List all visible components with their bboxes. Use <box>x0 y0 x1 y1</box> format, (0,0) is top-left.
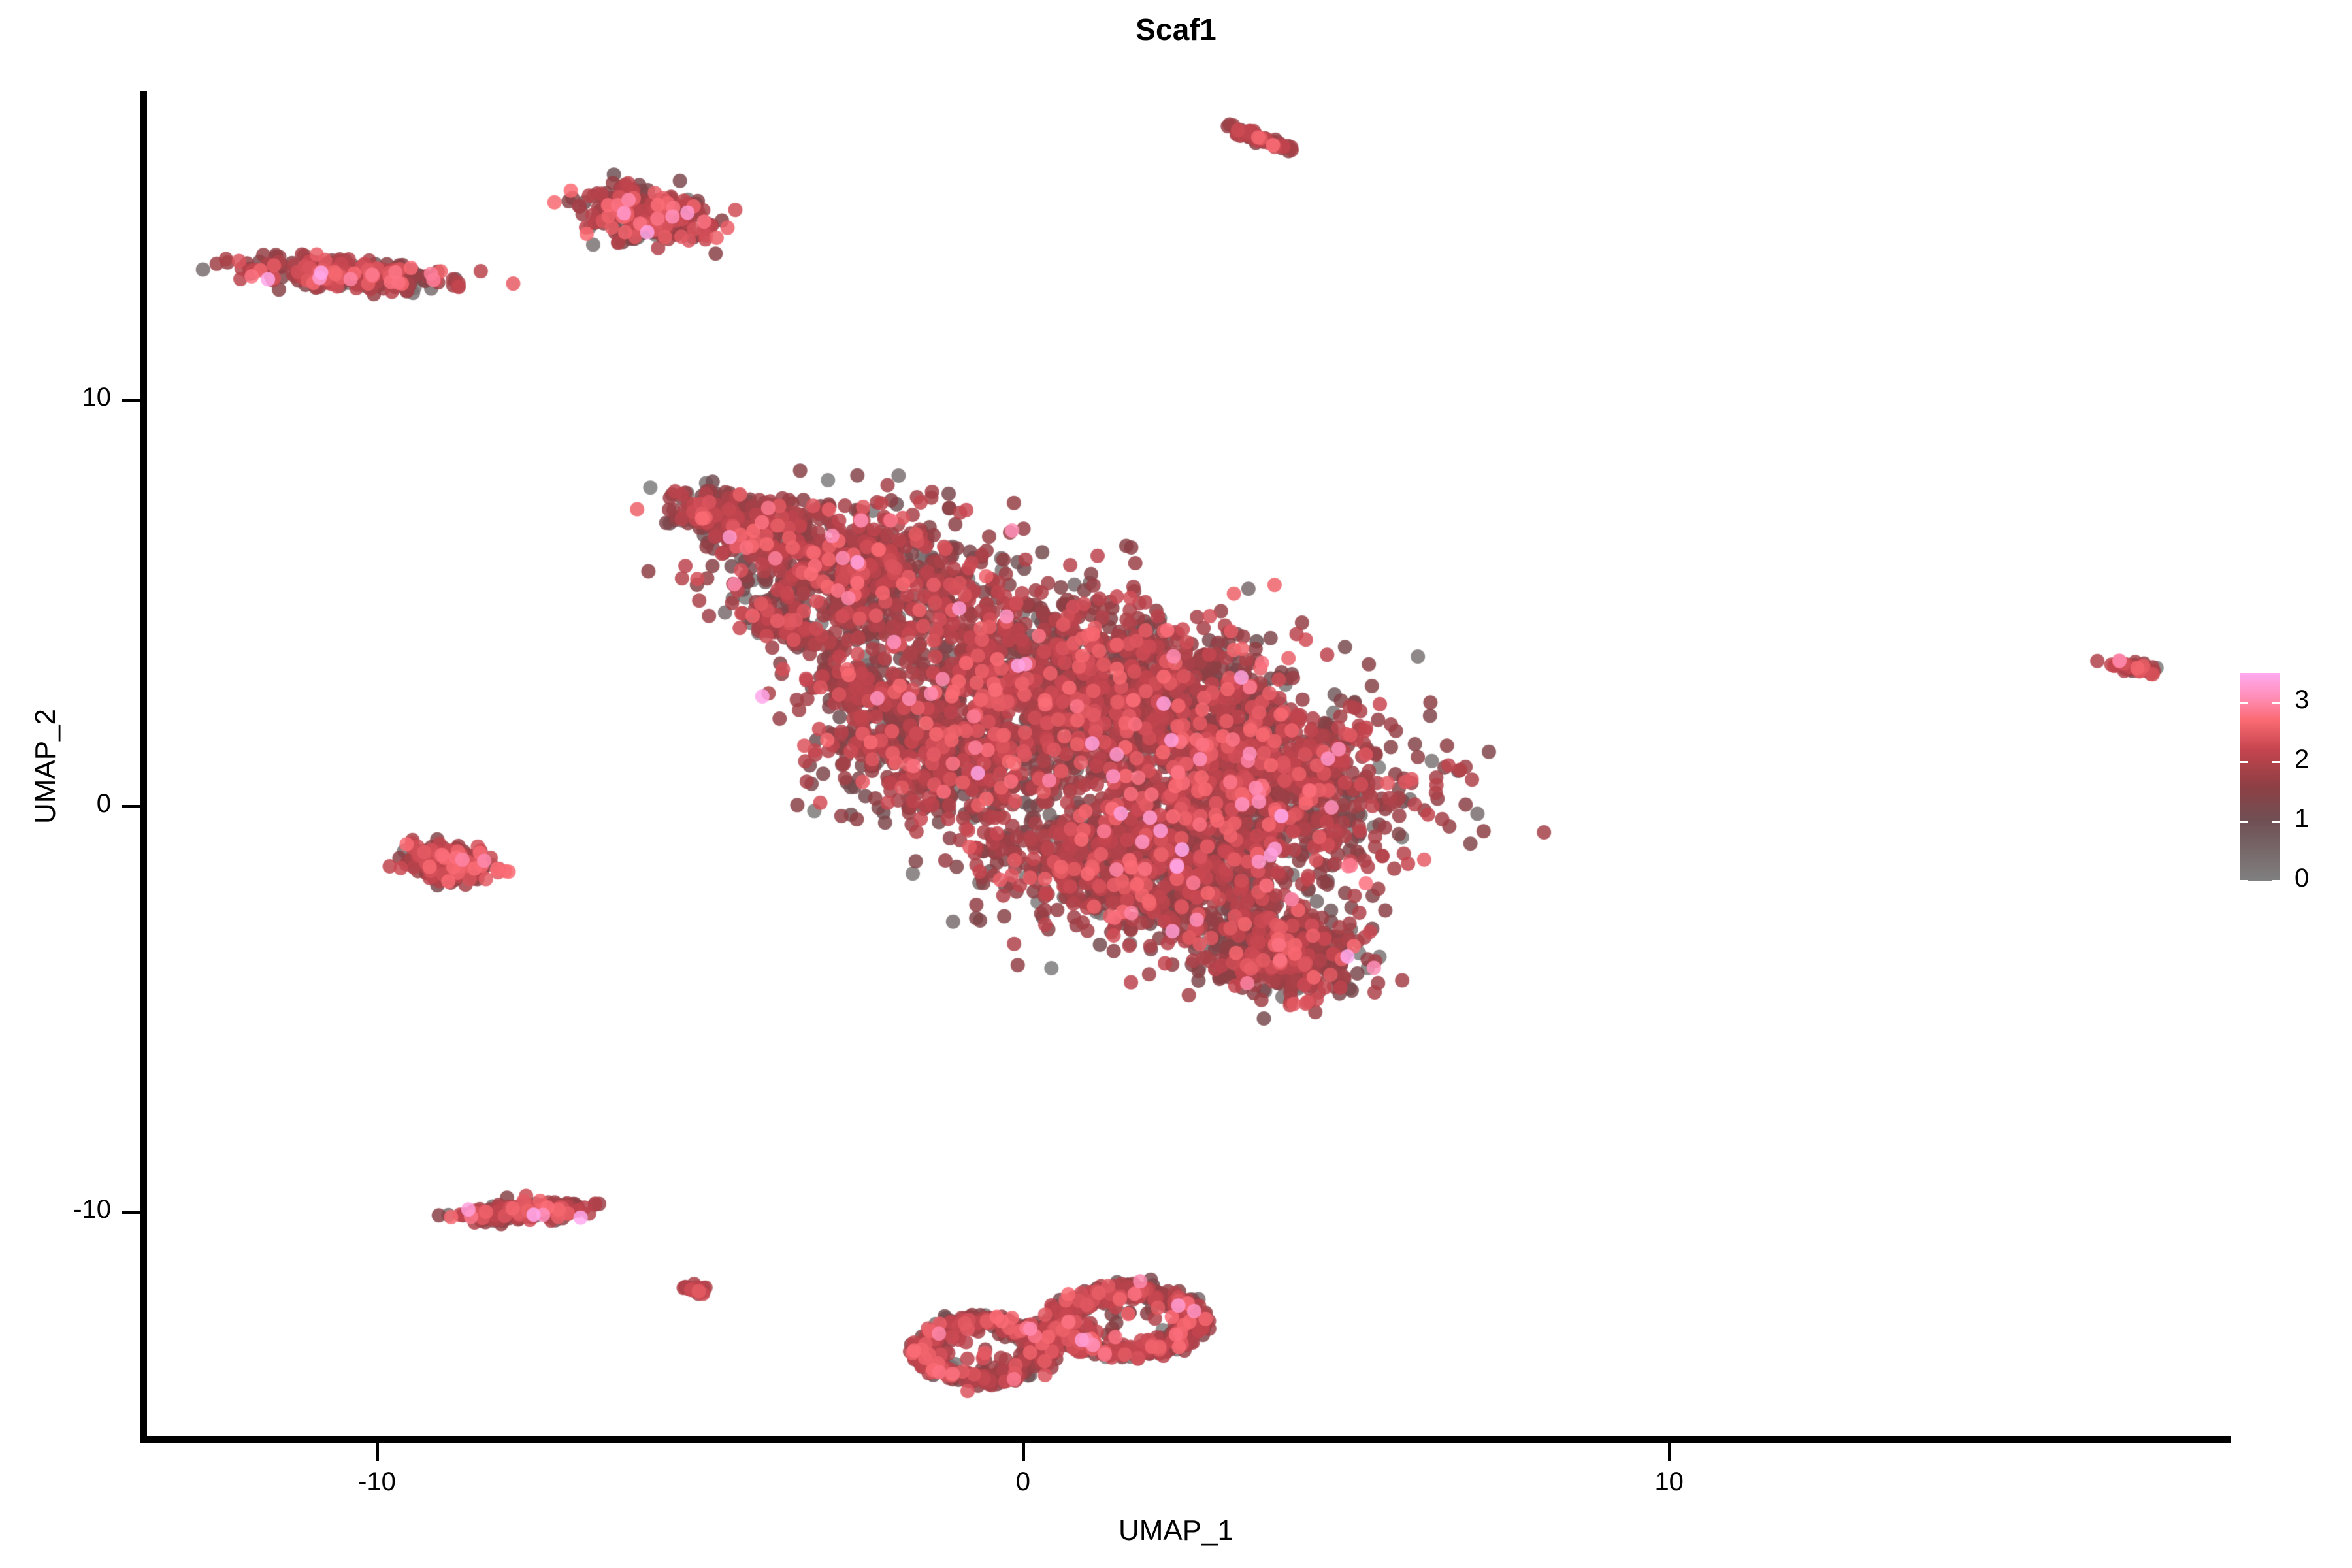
x-axis-tick <box>1668 1443 1671 1461</box>
colorbar-tick-label: 0 <box>2295 864 2347 893</box>
y-axis-tick <box>122 399 140 402</box>
x-axis-tick <box>1022 1443 1025 1461</box>
y-axis-tick-label: 10 <box>0 383 111 412</box>
y-axis-title: UMAP_2 <box>29 668 62 864</box>
x-axis-tick <box>376 1443 379 1461</box>
y-axis-tick <box>122 805 140 808</box>
colorbar-tick <box>2240 880 2248 882</box>
umap-feature-plot: Scaf1 -10010-10010 UMAP_1 UMAP_2 0123 <box>0 0 2352 1568</box>
y-axis-tick-label: -10 <box>0 1195 111 1224</box>
colorbar-tick <box>2272 702 2280 704</box>
colorbar-tick-label: 3 <box>2295 685 2347 715</box>
x-axis-tick-label: -10 <box>312 1467 442 1497</box>
y-axis-line <box>140 91 147 1443</box>
x-axis-title: UMAP_1 <box>0 1514 2352 1547</box>
colorbar-tick <box>2240 702 2248 704</box>
colorbar-gradient <box>2240 673 2280 881</box>
scatter-points-layer <box>144 91 2231 1439</box>
colorbar-tick <box>2272 821 2280 823</box>
y-axis-tick <box>122 1211 140 1214</box>
plot-panel <box>144 91 2231 1439</box>
colorbar-tick <box>2272 761 2280 763</box>
colorbar-tick <box>2272 880 2280 882</box>
colorbar-tick <box>2240 761 2248 763</box>
colorbar-tick <box>2240 821 2248 823</box>
colorbar-legend <box>2240 673 2280 881</box>
x-axis-line <box>140 1436 2231 1443</box>
x-axis-tick-label: 10 <box>1604 1467 1735 1497</box>
colorbar-tick-label: 2 <box>2295 745 2347 774</box>
page-title: Scaf1 <box>0 12 2352 47</box>
x-axis-tick-label: 0 <box>958 1467 1088 1497</box>
colorbar-tick-label: 1 <box>2295 804 2347 834</box>
